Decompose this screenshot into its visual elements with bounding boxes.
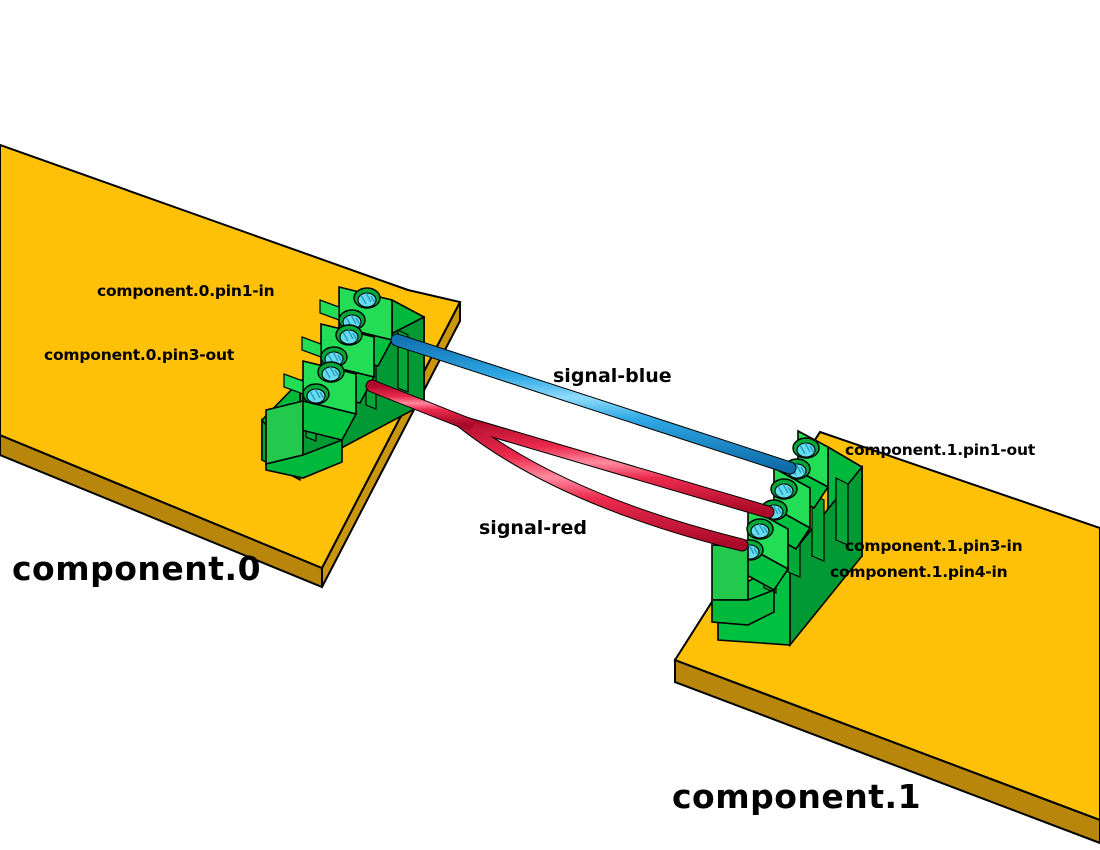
pin-label-component-1-pin1-out: component.1.pin1-out — [845, 443, 1035, 459]
wire-signal-blue[interactable] — [397, 340, 790, 468]
board-label-component-0: component.0 — [12, 552, 261, 585]
connector-1-end-cap — [712, 545, 748, 600]
connector-0-end-cap — [266, 401, 303, 464]
signal-label-signal-blue: signal-blue — [553, 367, 672, 386]
wiring-diagram-canvas: component.0.pin1-in component.0.pin3-out… — [0, 0, 1100, 850]
diagram-svg — [0, 0, 1100, 850]
pin-label-component-1-pin4-in: component.1.pin4-in — [830, 565, 1008, 581]
board-label-component-1: component.1 — [672, 780, 921, 813]
pin-label-component-1-pin3-in: component.1.pin3-in — [845, 539, 1023, 555]
pin-label-component-0-pin1-in: component.0.pin1-in — [97, 284, 275, 300]
wire-blue-body — [397, 340, 790, 468]
pin-label-component-0-pin3-out: component.0.pin3-out — [44, 348, 234, 364]
signal-label-signal-red: signal-red — [479, 519, 587, 538]
wire-red-branch-a — [462, 422, 768, 512]
